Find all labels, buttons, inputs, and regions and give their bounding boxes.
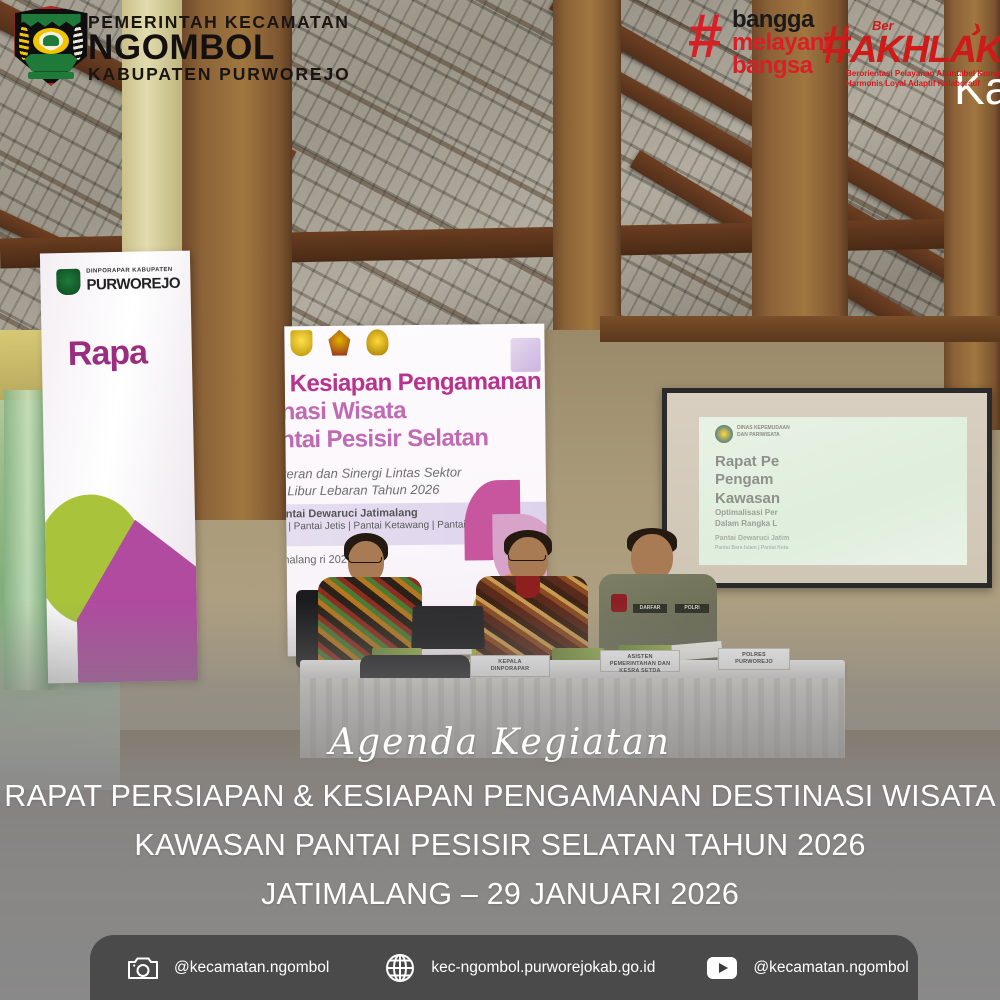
- slide-dept-line2: DAN PARIWISATA: [737, 432, 780, 438]
- social-item-website[interactable]: kec-ngombol.purworejokab.go.id: [383, 951, 655, 985]
- polri-crest-icon: [366, 329, 388, 355]
- eyeglasses-icon: [348, 557, 382, 563]
- projected-slide: DINAS KEPEMUDAAN DAN PARIWISATA Rapat Pe…: [699, 417, 967, 565]
- header-line-district: NGOMBOL: [88, 28, 275, 68]
- banner-sub-line2: ka Libur Lebaran Tahun 2026: [284, 482, 439, 499]
- agenda-title-line2: KAWASAN PANTAI PESISIR SELATAN TAHUN 202…: [0, 821, 1000, 870]
- social-item-instagram[interactable]: @kecamatan.ngombol: [126, 951, 329, 985]
- banner-headline: Rapa: [67, 333, 147, 374]
- banner-head-line1: & Kesiapan Pengamanan: [284, 368, 541, 399]
- purworejo-regency-crest-icon: [12, 6, 90, 86]
- banner-place-line1: Pantai Dewaruci Jatimalang: [284, 507, 418, 521]
- instagram-camera-icon: [126, 951, 160, 985]
- slide-logo-icon: [715, 425, 733, 443]
- agenda-script-label: Agenda Kegiatan: [0, 722, 1000, 763]
- slide-footer-line1: Pantai Dewaruci Jatim: [715, 535, 789, 542]
- globe-website-icon: [383, 951, 417, 985]
- hashtag-glyph-icon: #: [688, 6, 722, 68]
- banner-sub-line1: Peran dan Sinergi Lintas Sektor: [284, 465, 461, 482]
- youtube-play-icon: [705, 951, 739, 985]
- slide-dept-line1: DINAS KEPEMUDAAN: [737, 425, 790, 431]
- slide-footer-line2: Pantai Bara Islam | Pantai Keta: [715, 545, 788, 551]
- overflow-title-line4: In: [660, 177, 1000, 236]
- slide-department: DINAS KEPEMUDAAN DAN PARIWISATA: [737, 425, 790, 439]
- regency-crest-icon: [290, 330, 312, 356]
- bangga-word3: bangsa: [732, 52, 812, 80]
- berakhlak-logo: # Ber AKHLAK › Berorientasi Pelayanan Ak…: [822, 12, 1000, 80]
- banner-date-line: atimalang ri 2026: [284, 554, 353, 567]
- header-line-regency: KABUPATEN PURWOREJO: [88, 64, 351, 85]
- social-media-bar: @kecamatan.ngombol kec-ngombol.purworejo…: [90, 935, 918, 1000]
- berakhlak-values-line1: Berorientasi Pelayanan Akuntabel Kompete…: [846, 69, 1000, 78]
- banner-crest-row: [290, 329, 388, 356]
- social-item-youtube[interactable]: @kecamatan.ngombol: [705, 951, 908, 985]
- slide-subtitle: Optimalisasi Per Dalam Rangka L: [715, 507, 778, 529]
- banner-head-line2: tinasi Wisata: [284, 397, 406, 426]
- website-url: kec-ngombol.purworejokab.go.id: [431, 959, 655, 977]
- hashtag-glyph-icon: #: [822, 18, 852, 72]
- overflow-title-line5: Ja: [660, 236, 1000, 295]
- banner-head-line3: antai Pesisir Selatan: [284, 424, 488, 454]
- instagram-handle: @kecamatan.ngombol: [174, 959, 329, 977]
- agenda-title-line3: JATIMALANG – 29 JANUARI 2026: [0, 870, 1000, 919]
- banner-dept-small: DINPORAPAR KABUPATEN: [86, 267, 172, 275]
- shirt-collar: [516, 576, 540, 598]
- berakhlak-values-line2: Harmonis Loyal Adaptif Kolaboratif: [846, 79, 980, 88]
- overflow-title-line3: Jawa: [660, 118, 1000, 177]
- agenda-title-line1: RAPAT PERSIAPAN & KESIAPAN PENGAMANAN DE…: [0, 772, 1000, 821]
- projector-screen: DINAS KEPEMUDAAN DAN PARIWISATA Rapat Pe…: [662, 388, 992, 588]
- tni-crest-icon: [328, 330, 350, 356]
- horizontal-beam: [600, 316, 1000, 342]
- slide-title: Rapat Pe Pengam Kawasan: [715, 453, 780, 508]
- poster-canvas: DINPORAPAR KABUPATEN PURWOREJO Rapa & Ke…: [0, 0, 1000, 1000]
- banner-dept-big: PURWOREJO: [86, 275, 180, 294]
- agenda-title-block: RAPAT PERSIAPAN & KESIAPAN PENGAMANAN DE…: [0, 772, 1000, 918]
- youtube-handle: @kecamatan.ngombol: [753, 959, 908, 977]
- eyeglasses-icon: [508, 555, 546, 561]
- dinporapar-logo-icon: [56, 269, 80, 295]
